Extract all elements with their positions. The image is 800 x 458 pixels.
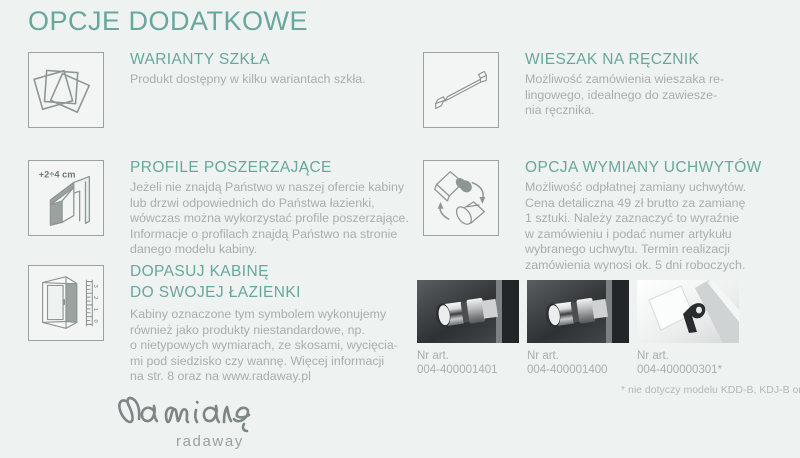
article-info: Nr art. 004-400001401 [417, 349, 519, 377]
article-number: 004-400000301* [637, 363, 739, 377]
feature-title-line-2: DO SWOJEJ ŁAZIENKI [130, 282, 398, 303]
logo-artwork: radaway [112, 388, 322, 452]
body-line: w zamówieniu i podać numer artykułu [525, 227, 762, 243]
body-line: również jako produkty niestandardowe, np… [130, 323, 398, 339]
article-label: Nr art. [527, 349, 629, 363]
feature-body: Jeżeli nie znajdą Państwo w naszej oferc… [130, 180, 409, 258]
body-line: nia ręcznika. [525, 103, 724, 119]
product-item: Nr art. 004-400001400 [527, 280, 629, 377]
article-number: 004-400001401 [417, 363, 519, 377]
profile-icon-label: +2÷4 cm [39, 170, 76, 180]
svg-text:1: 1 [92, 308, 98, 311]
feature-body: Produkt dostępny w kilku wariantach szkł… [130, 72, 366, 88]
products-footnote: * nie dotyczy modelu KDD-B, KDJ-B oraz D… [621, 384, 800, 396]
article-info: Nr art. 004-400001400 [527, 349, 629, 377]
page-root: OPCJE DODATKOWE WARIANTY SZKŁA Produkt d… [0, 0, 800, 458]
feature-title: WIESZAK NA RĘCZNIK [525, 50, 724, 69]
body-line: Kabiny oznaczone tym symbolem wykonujemy [130, 307, 398, 323]
body-line: Możliwość zamówienia wieszaka re- [525, 72, 724, 88]
glass-panes-icon [28, 52, 104, 128]
body-line: mi pod siedzisko czy wannę. Więcej infor… [130, 354, 398, 370]
feature-text: OPCJA WYMIANY UCHWYTÓW Możliwość odpłatn… [525, 158, 762, 274]
body-line: wówczas można wykorzystać profile poszer… [130, 211, 409, 227]
feature-body: Kabiny oznaczone tym symbolem wykonujemy… [130, 307, 398, 385]
body-line: danego modelu kabiny. [130, 242, 409, 258]
feature-text: WIESZAK NA RĘCZNIK Możliwość zamówienia … [525, 50, 724, 119]
feature-title: PROFILE POSZERZAJĄCE [130, 158, 409, 177]
chrome-knob-handle-photo [527, 280, 629, 343]
body-line: Produkt dostępny w kilku wariantach szkł… [130, 72, 366, 88]
feature-title: WARIANTY SZKŁA [130, 50, 366, 69]
body-line: Informacje o profilach znajdą Państwo na… [130, 227, 409, 243]
cabin-ruler-icon: 3 2 1 0 [28, 265, 104, 341]
body-line: lub drzwi odpowiednich do Państwa łazien… [130, 196, 409, 212]
feature-title-line-1: DOPASUJ KABINĘ [130, 261, 398, 282]
feature-body: Możliwość odpłatnej zamiany uchwytów. Ce… [525, 180, 762, 274]
page-title: OPCJE DODATKOWE [28, 6, 308, 37]
feature-text: DOPASUJ KABINĘ DO SWOJEJ ŁAZIENKI Kabiny… [130, 261, 398, 385]
svg-text:2: 2 [92, 296, 98, 299]
hook-handle-photo [637, 280, 739, 343]
towel-rail-icon [423, 52, 499, 128]
svg-text:0: 0 [92, 320, 98, 324]
article-label: Nr art. [637, 349, 739, 363]
na-miare-radaway-logo: radaway [112, 388, 322, 452]
widening-profile-icon: +2÷4 cm [28, 160, 104, 236]
body-line: na str. 8 oraz na www.radaway.pl [130, 369, 398, 385]
article-info: Nr art. 004-400000301* [637, 349, 739, 377]
body-line: Możliwość odpłatnej zamiany uchwytów. [525, 180, 762, 196]
handle-swap-icon [423, 160, 499, 236]
article-number: 004-400001400 [527, 363, 629, 377]
body-line: zamówienia wynosi ok. 5 dni roboczych. [525, 258, 762, 274]
feature-body: Możliwość zamówienia wieszaka re- lingow… [525, 72, 724, 119]
feature-text: WARIANTY SZKŁA Produkt dostępny w kilku … [130, 50, 366, 88]
body-line: lingowego, idealnego do zawiesze- [525, 88, 724, 104]
body-line: o nietypowych wymiarach, ze skosami, wyc… [130, 338, 398, 354]
body-line: Jeżeli nie znajdą Państwo w naszej oferc… [130, 180, 409, 196]
article-label: Nr art. [417, 349, 519, 363]
product-photo-row: Nr art. 004-400001401 [417, 280, 792, 395]
product-item: Nr art. 004-400001401 [417, 280, 519, 377]
body-line: Cena detaliczna 49 zł brutto za zamianę [525, 196, 762, 212]
svg-text:3: 3 [92, 285, 98, 288]
product-item: Nr art. 004-400000301* [637, 280, 739, 377]
logo-brand-text: radaway [176, 433, 244, 450]
feature-title: OPCJA WYMIANY UCHWYTÓW [525, 158, 762, 177]
chrome-knob-handle-photo [417, 280, 519, 343]
feature-text: PROFILE POSZERZAJĄCE Jeżeli nie znajdą P… [130, 158, 409, 258]
body-line: 1 sztuki. Należy zaznaczyć to wyraźnie [525, 211, 762, 227]
body-line: wybranego uchwytu. Termin realizacji [525, 242, 762, 258]
